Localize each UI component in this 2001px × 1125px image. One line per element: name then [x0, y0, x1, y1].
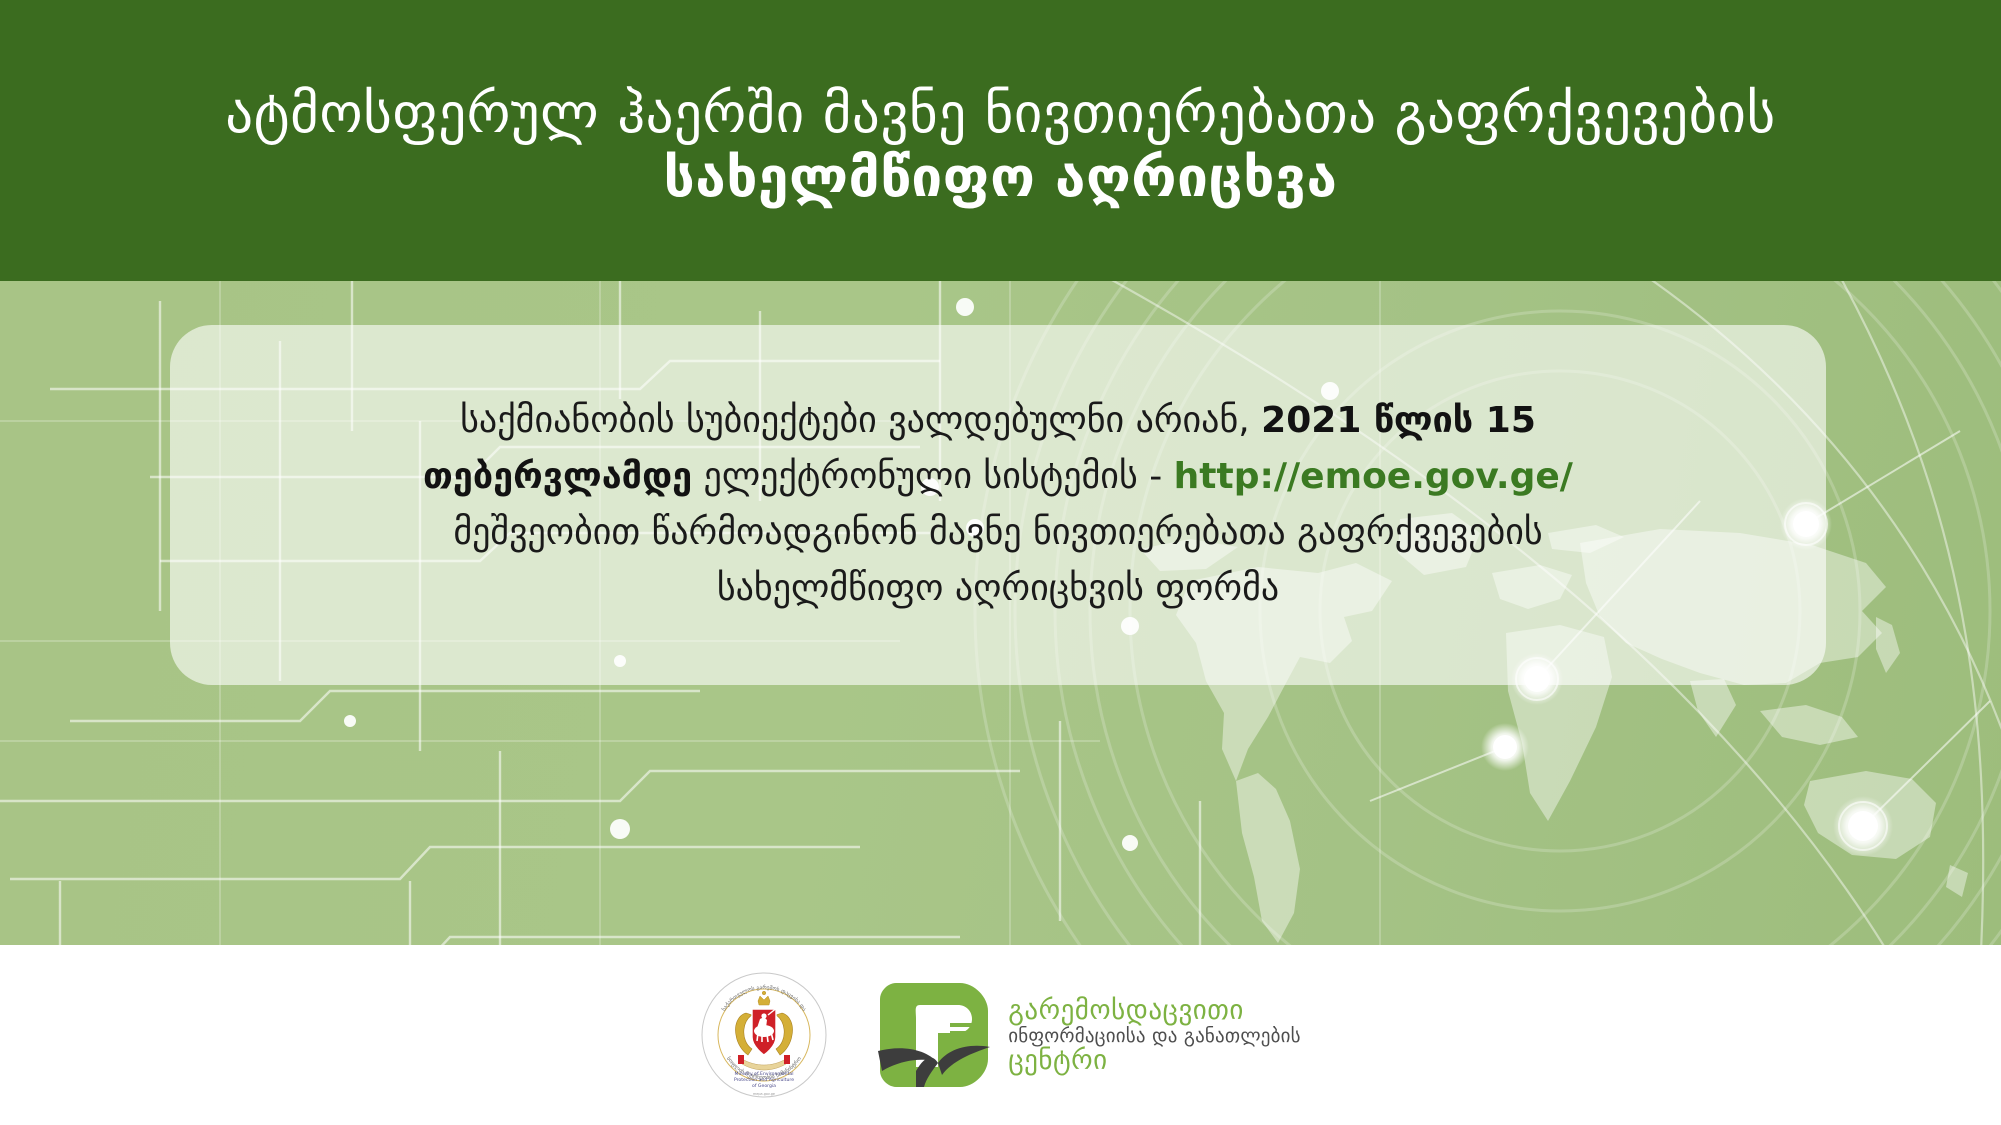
eiec-wordmark: გარემოსდაცვითი ინფორმაციისა და განათლები…	[1008, 997, 1301, 1074]
svg-text:Protection and Agriculture: Protection and Agriculture	[734, 1077, 794, 1083]
ministry-seal-icon: საქართველოს გარემოს დაცვისა და სოფლის მე…	[700, 971, 828, 1099]
paragraph-segment-2: ელექტრონული სისტემის -	[692, 456, 1174, 497]
banner-footer: საქართველოს გარემოს დაცვისა და სოფლის მე…	[0, 945, 2001, 1125]
svg-text:mepa.gov.ge: mepa.gov.ge	[753, 1092, 775, 1096]
banner-root: ატმოსფერულ ჰაერში მავნე ნივთიერებათა გაფ…	[0, 0, 2001, 1125]
header-title-line-2: სახელმწიფო აღრიცხვა	[663, 146, 1337, 210]
banner-header: ატმოსფერულ ჰაერში მავნე ნივთიერებათა გაფ…	[0, 0, 2001, 281]
content-card: საქმიანობის სუბიექტები ვალდებულნი არიან,…	[170, 325, 1826, 685]
banner-body-band: საქმიანობის სუბიექტები ვალდებულნი არიან,…	[0, 281, 2001, 945]
eiec-line-3: ცენტრი	[1008, 1047, 1301, 1074]
eiec-book-leaf-icon	[876, 979, 994, 1091]
instruction-paragraph: საქმიანობის სუბიექტები ვალდებულნი არიან,…	[298, 393, 1698, 616]
eiec-line-2: ინფორმაციისა და განათლების	[1008, 1027, 1301, 1046]
svg-text:Ministry of Environmental: Ministry of Environmental	[735, 1071, 794, 1077]
emoe-portal-link[interactable]: http://emoe.gov.ge/	[1174, 456, 1573, 497]
eiec-logo: გარემოსდაცვითი ინფორმაციისა და განათლები…	[876, 979, 1301, 1091]
paragraph-segment-3: მეშვეობით წარმოადგინონ მავნე ნივთიერებათ…	[453, 512, 1542, 609]
eiec-line-1: გარემოსდაცვითი	[1008, 997, 1301, 1024]
svg-text:of Georgia: of Georgia	[752, 1083, 776, 1089]
paragraph-segment-1: საქმიანობის სუბიექტები ვალდებულნი არიან,	[460, 400, 1261, 441]
ministry-seal-logo: საქართველოს გარემოს დაცვისა და სოფლის მე…	[700, 971, 828, 1099]
header-title-line-1: ატმოსფერულ ჰაერში მავნე ნივთიერებათა გაფ…	[225, 82, 1776, 146]
